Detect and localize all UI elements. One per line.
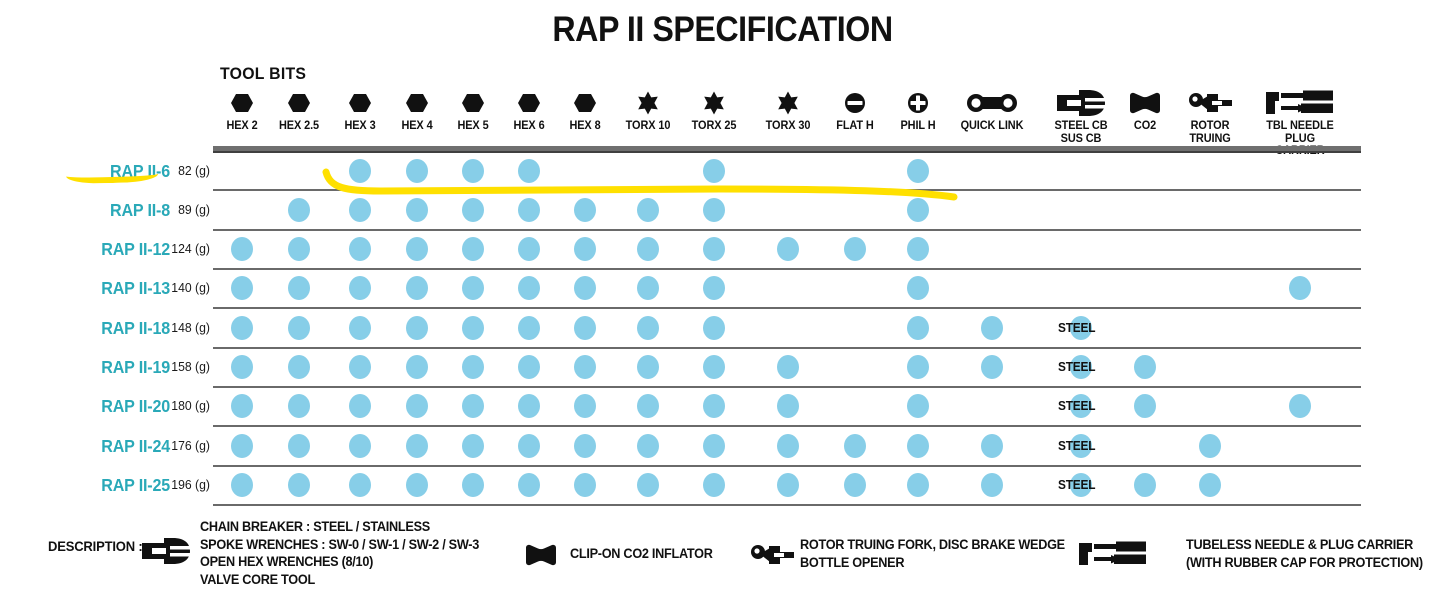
matrix-dot — [349, 276, 371, 300]
steel-cb-tag: STEEL — [1058, 321, 1095, 335]
steel-cb-tag: STEEL — [1058, 360, 1095, 374]
column-label: ROTOR TRUING — [1169, 120, 1251, 145]
matrix-dot — [518, 316, 540, 340]
column-header-quicklink: QUICK LINK — [949, 90, 1035, 133]
row-label-rap-ii-13[interactable]: RAP II-13 — [85, 278, 170, 299]
matrix-dot — [1289, 276, 1311, 300]
matrix-dot — [574, 394, 596, 418]
matrix-dot — [703, 394, 725, 418]
footer-description-3: TUBELESS NEEDLE & PLUG CARRIER (WITH RUB… — [1186, 536, 1423, 571]
row-label-rap-ii-8[interactable]: RAP II-8 — [85, 200, 170, 221]
matrix-dot — [288, 316, 310, 340]
matrix-dot — [462, 473, 484, 497]
matrix-dot — [518, 237, 540, 261]
footer-description-0: CHAIN BREAKER : STEEL / STAINLESS SPOKE … — [200, 518, 479, 588]
matrix-dot — [907, 473, 929, 497]
chain-breaker-icon — [140, 536, 192, 571]
matrix-dot — [907, 394, 929, 418]
matrix-dot — [288, 237, 310, 261]
steel-cb-tag: STEEL — [1058, 439, 1095, 453]
row-weight: 158 (g) — [163, 359, 210, 374]
tool-bits-label: TOOL BITS — [220, 64, 306, 84]
matrix-dot — [349, 434, 371, 458]
column-label: QUICK LINK — [951, 120, 1033, 133]
matrix-dot — [518, 434, 540, 458]
matrix-dot — [777, 473, 799, 497]
matrix-dot — [574, 434, 596, 458]
matrix-dot — [907, 237, 929, 261]
footer-description-2: ROTOR TRUING FORK, DISC BRAKE WEDGE BOTT… — [800, 536, 1065, 571]
matrix-dot — [1134, 394, 1156, 418]
matrix-dot — [349, 316, 371, 340]
matrix-dot — [703, 473, 725, 497]
highlight-sweep — [320, 158, 960, 206]
matrix-dot — [462, 355, 484, 379]
row-divider-1 — [213, 229, 1361, 231]
row-weight: 89 (g) — [163, 202, 210, 217]
matrix-dot — [288, 394, 310, 418]
matrix-dot — [574, 276, 596, 300]
row-weight: 148 (g) — [163, 320, 210, 335]
matrix-dot — [231, 394, 253, 418]
row-label-rap-ii-24[interactable]: RAP II-24 — [85, 436, 170, 457]
matrix-dot — [288, 434, 310, 458]
matrix-dot — [907, 276, 929, 300]
matrix-dot — [406, 237, 428, 261]
spec-sheet: RAP II SPECIFICATION TOOL BITS HEX 2HEX … — [0, 0, 1445, 608]
matrix-dot — [518, 276, 540, 300]
matrix-dot — [703, 237, 725, 261]
matrix-dot — [231, 316, 253, 340]
matrix-dot — [1134, 355, 1156, 379]
matrix-dot — [518, 394, 540, 418]
matrix-dot — [574, 316, 596, 340]
rotor-truing-icon — [750, 543, 794, 572]
row-label-rap-ii-18[interactable]: RAP II-18 — [85, 318, 170, 339]
matrix-dot — [981, 473, 1003, 497]
page-title: RAP II SPECIFICATION — [58, 0, 1387, 50]
matrix-dot — [406, 276, 428, 300]
matrix-dot — [637, 237, 659, 261]
steel-cb-tag: STEEL — [1058, 399, 1095, 413]
matrix-dot — [1289, 394, 1311, 418]
row-weight: 176 (g) — [163, 438, 210, 453]
row-weight: 124 (g) — [163, 241, 210, 256]
row-weight: 140 (g) — [163, 280, 210, 295]
matrix-dot — [518, 473, 540, 497]
matrix-dot — [231, 473, 253, 497]
column-header-rotor: ROTOR TRUING — [1167, 90, 1253, 145]
tbl-needle-icon — [1257, 90, 1343, 116]
matrix-dot — [777, 394, 799, 418]
co2-inflator-icon — [524, 544, 558, 571]
matrix-dot — [844, 237, 866, 261]
matrix-dot — [231, 237, 253, 261]
row-divider-3 — [213, 307, 1361, 309]
matrix-dot — [777, 355, 799, 379]
column-label: TORX 25 — [673, 120, 755, 133]
row-weight: 180 (g) — [163, 398, 210, 413]
matrix-dot — [349, 237, 371, 261]
steel-cb-tag: STEEL — [1058, 478, 1095, 492]
matrix-dot — [349, 394, 371, 418]
matrix-dot — [1199, 473, 1221, 497]
matrix-dot — [462, 316, 484, 340]
matrix-dot — [907, 434, 929, 458]
matrix-dot — [231, 434, 253, 458]
description-label: DESCRIPTION : — [48, 538, 143, 554]
matrix-dot — [406, 316, 428, 340]
row-divider-2 — [213, 268, 1361, 270]
matrix-dot — [349, 473, 371, 497]
row-label-rap-ii-19[interactable]: RAP II-19 — [85, 357, 170, 378]
matrix-dot — [462, 237, 484, 261]
matrix-dot — [406, 434, 428, 458]
row-label-rap-ii-12[interactable]: RAP II-12 — [85, 239, 170, 260]
matrix-dot — [231, 355, 253, 379]
matrix-dot — [406, 473, 428, 497]
matrix-dot — [703, 316, 725, 340]
matrix-dot — [288, 355, 310, 379]
matrix-dot — [231, 276, 253, 300]
rotor-truing-icon — [1167, 90, 1253, 116]
matrix-dot — [574, 473, 596, 497]
matrix-dot — [703, 276, 725, 300]
matrix-dot — [844, 434, 866, 458]
matrix-dot — [349, 355, 371, 379]
matrix-dot — [844, 473, 866, 497]
matrix-dot — [1134, 473, 1156, 497]
matrix-dot — [981, 355, 1003, 379]
matrix-dot — [637, 355, 659, 379]
row-divider-4 — [213, 347, 1361, 349]
matrix-dot — [406, 355, 428, 379]
row-weight: 196 (g) — [163, 477, 210, 492]
matrix-dot — [637, 394, 659, 418]
matrix-dot — [574, 355, 596, 379]
matrix-dot — [907, 316, 929, 340]
matrix-dot — [703, 355, 725, 379]
tbl-needle-icon — [1078, 540, 1148, 573]
matrix-dot — [288, 276, 310, 300]
matrix-dot — [1199, 434, 1221, 458]
matrix-dot — [462, 394, 484, 418]
matrix-dot — [637, 276, 659, 300]
matrix-dot — [637, 434, 659, 458]
matrix-dot — [637, 473, 659, 497]
matrix-dot — [981, 316, 1003, 340]
row-weight: 82 (g) — [163, 163, 210, 178]
row-divider-6 — [213, 425, 1361, 427]
matrix-dot — [574, 237, 596, 261]
matrix-dot — [981, 434, 1003, 458]
footer-description-1: CLIP-ON CO2 INFLATOR — [570, 545, 713, 563]
header-rule — [213, 146, 1361, 153]
matrix-dot — [406, 394, 428, 418]
row-divider-8 — [213, 504, 1361, 506]
column-label: PHIL H — [877, 120, 959, 133]
row-label-rap-ii-20[interactable]: RAP II-20 — [85, 396, 170, 417]
row-divider-5 — [213, 386, 1361, 388]
matrix-dot — [288, 198, 310, 222]
matrix-dot — [462, 276, 484, 300]
matrix-dot — [518, 355, 540, 379]
row-label-rap-ii-25[interactable]: RAP II-25 — [85, 475, 170, 496]
matrix-dot — [288, 473, 310, 497]
matrix-dot — [777, 237, 799, 261]
matrix-dot — [462, 434, 484, 458]
matrix-dot — [637, 316, 659, 340]
quick-link-icon — [949, 90, 1035, 116]
row-divider-7 — [213, 465, 1361, 467]
matrix-dot — [703, 434, 725, 458]
matrix-dot — [907, 355, 929, 379]
matrix-dot — [777, 434, 799, 458]
